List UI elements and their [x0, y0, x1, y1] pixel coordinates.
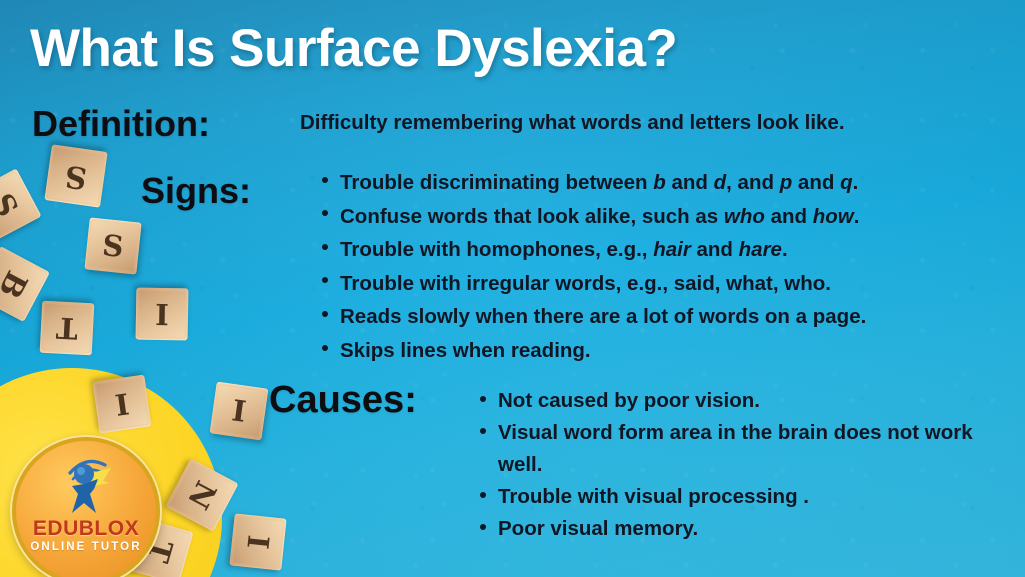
- causes-list: Not caused by poor vision.Visual word fo…: [476, 385, 996, 545]
- bullet-dot-icon: [322, 177, 328, 183]
- emphasis-text: how: [813, 205, 854, 228]
- bullet-dot-icon: [322, 345, 328, 351]
- list-item-text: Skips lines when reading.: [340, 339, 591, 362]
- list-item-text: , and: [726, 171, 780, 194]
- list-item-text: Trouble discriminating between: [340, 171, 653, 194]
- logo-name: EDUBLOX: [16, 517, 156, 541]
- list-item: Trouble with visual processing .: [476, 481, 996, 513]
- list-item-text: Visual word form area in the brain does …: [498, 421, 973, 476]
- emphasis-text: hair: [653, 238, 691, 261]
- list-item: Trouble with irregular words, e.g., said…: [318, 267, 1008, 301]
- emphasis-text: hare: [739, 238, 782, 261]
- scrabble-tile-letter: S: [0, 189, 23, 221]
- signs-label: Signs:: [141, 170, 251, 212]
- list-item-text: Confuse words that look alike, such as: [340, 205, 724, 228]
- scrabble-tile-letter: I: [243, 534, 273, 551]
- scrabble-tile: T: [40, 301, 95, 356]
- list-item: Trouble with homophones, e.g., hair and …: [318, 233, 1008, 267]
- bullet-dot-icon: [480, 492, 486, 498]
- scrabble-tile-letter: I: [113, 389, 130, 420]
- causes-label: Causes:: [269, 379, 417, 422]
- bullet-dot-icon: [322, 210, 328, 216]
- bullet-dot-icon: [322, 311, 328, 317]
- list-item-text: and: [666, 171, 714, 194]
- infographic-canvas: SSBSITIINTI EDUBLOX ONLINE TUTOR What Is…: [0, 0, 1025, 577]
- list-item-text: and: [765, 205, 813, 228]
- definition-label: Definition:: [32, 103, 210, 145]
- logo-subtitle: ONLINE TUTOR: [16, 541, 156, 553]
- edublox-figure-icon: [53, 453, 119, 517]
- emphasis-text: p: [780, 171, 793, 194]
- definition-text: Difficulty remembering what words and le…: [300, 111, 845, 135]
- scrabble-tile: I: [210, 382, 269, 441]
- scrabble-tile-letter: I: [230, 396, 247, 427]
- scrabble-tile: I: [136, 288, 189, 341]
- list-item: Poor visual memory.: [476, 513, 996, 545]
- edublox-logo[interactable]: EDUBLOX ONLINE TUTOR: [12, 437, 160, 577]
- list-item-text: .: [782, 238, 788, 261]
- list-item-text: .: [853, 171, 859, 194]
- bullet-dot-icon: [322, 244, 328, 250]
- list-item: Visual word form area in the brain does …: [476, 417, 996, 481]
- bullet-dot-icon: [322, 277, 328, 283]
- scrabble-tile-letter: N: [183, 476, 221, 513]
- scrabble-tile: I: [93, 375, 152, 434]
- scrabble-tile-letter: S: [63, 160, 89, 193]
- emphasis-text: b: [653, 171, 666, 194]
- list-item-text: Reads slowly when there are a lot of wor…: [340, 305, 866, 328]
- list-item-text: Trouble with homophones, e.g.,: [340, 238, 653, 261]
- scrabble-tile: S: [44, 144, 107, 207]
- bullet-dot-icon: [480, 524, 486, 530]
- scrabble-tile-letter: T: [55, 313, 78, 343]
- bullet-dot-icon: [480, 428, 486, 434]
- list-item-text: Poor visual memory.: [498, 517, 698, 540]
- list-item-text: Not caused by poor vision.: [498, 389, 760, 412]
- list-item-text: and: [792, 171, 840, 194]
- list-item: Confuse words that look alike, such as w…: [318, 200, 1008, 234]
- list-item: Reads slowly when there are a lot of wor…: [318, 300, 1008, 334]
- emphasis-text: d: [714, 171, 727, 194]
- bullet-dot-icon: [480, 396, 486, 402]
- list-item: Not caused by poor vision.: [476, 385, 996, 417]
- emphasis-text: q: [840, 171, 853, 194]
- signs-list: Trouble discriminating between b and d, …: [318, 166, 1008, 368]
- list-item-text: and: [691, 238, 739, 261]
- list-item-text: .: [854, 205, 860, 228]
- scrabble-tile: S: [0, 168, 42, 241]
- emphasis-text: who: [724, 205, 765, 228]
- list-item: Skips lines when reading.: [318, 334, 1008, 368]
- scrabble-tile-letter: I: [155, 299, 169, 328]
- scrabble-tile-letter: B: [0, 266, 31, 302]
- scrabble-tile: S: [84, 217, 141, 274]
- scrabble-tile: I: [229, 513, 286, 570]
- list-item-text: Trouble with irregular words, e.g., said…: [340, 272, 831, 295]
- page-title: What Is Surface Dyslexia?: [30, 18, 677, 79]
- list-item-text: Trouble with visual processing .: [498, 485, 809, 508]
- scrabble-tile-letter: S: [101, 230, 125, 261]
- list-item: Trouble discriminating between b and d, …: [318, 166, 1008, 200]
